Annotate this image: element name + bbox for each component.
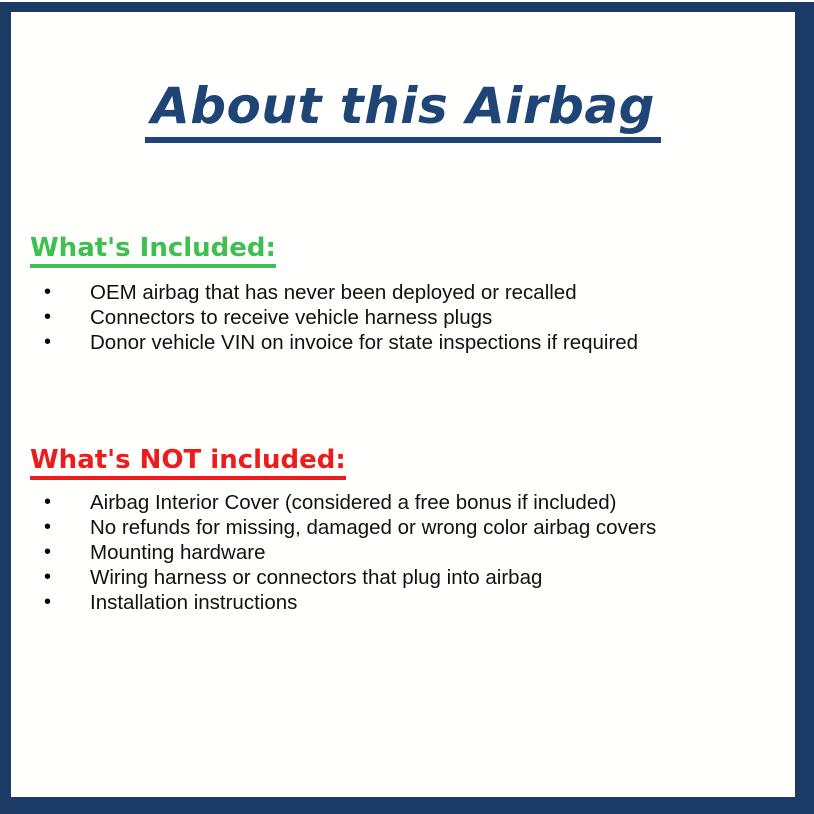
list-item-text: Connectors to receive vehicle harness pl… [90,305,492,330]
bullet-icon: • [44,305,51,330]
list-item-text: Wiring harness or connectors that plug i… [90,565,542,590]
bullet-icon: • [44,590,51,615]
bullet-icon: • [44,280,51,305]
list-item: • Airbag Interior Cover (considered a fr… [30,490,656,515]
included-bullet-list: • OEM airbag that has never been deploye… [30,280,638,355]
list-item: • Mounting hardware [30,540,656,565]
list-item-text: Airbag Interior Cover (considered a free… [90,490,616,515]
section-heading-excluded: What's NOT included: [30,446,346,480]
content-sheet: About this Airbag What's Included: • OEM… [11,12,795,797]
list-item-text: No refunds for missing, damaged or wrong… [90,515,656,540]
bullet-icon: • [44,565,51,590]
navy-border-frame: About this Airbag What's Included: • OEM… [0,2,814,814]
list-item: • Connectors to receive vehicle harness … [30,305,638,330]
bullet-icon: • [44,540,51,565]
section-heading-included: What's Included: [30,234,276,268]
bullet-icon: • [44,490,51,515]
list-item: • Wiring harness or connectors that plug… [30,565,656,590]
excluded-bullet-list: • Airbag Interior Cover (considered a fr… [30,490,656,615]
list-item-text: Mounting hardware [90,540,266,565]
list-item-text: OEM airbag that has never been deployed … [90,280,577,305]
list-item: • No refunds for missing, damaged or wro… [30,515,656,540]
list-item-text: Installation instructions [90,590,297,615]
list-item: • OEM airbag that has never been deploye… [30,280,638,305]
page-title-container: About this Airbag [11,80,795,143]
section-excluded: What's NOT included: • Airbag Interior C… [30,446,656,615]
bullet-icon: • [44,515,51,540]
page-title: About this Airbag [145,80,661,143]
list-item-text: Donor vehicle VIN on invoice for state i… [90,330,638,355]
list-item: • Installation instructions [30,590,656,615]
section-included: What's Included: • OEM airbag that has n… [30,234,638,355]
list-item: • Donor vehicle VIN on invoice for state… [30,330,638,355]
page-root: About this Airbag What's Included: • OEM… [0,0,814,814]
bullet-icon: • [44,330,51,355]
